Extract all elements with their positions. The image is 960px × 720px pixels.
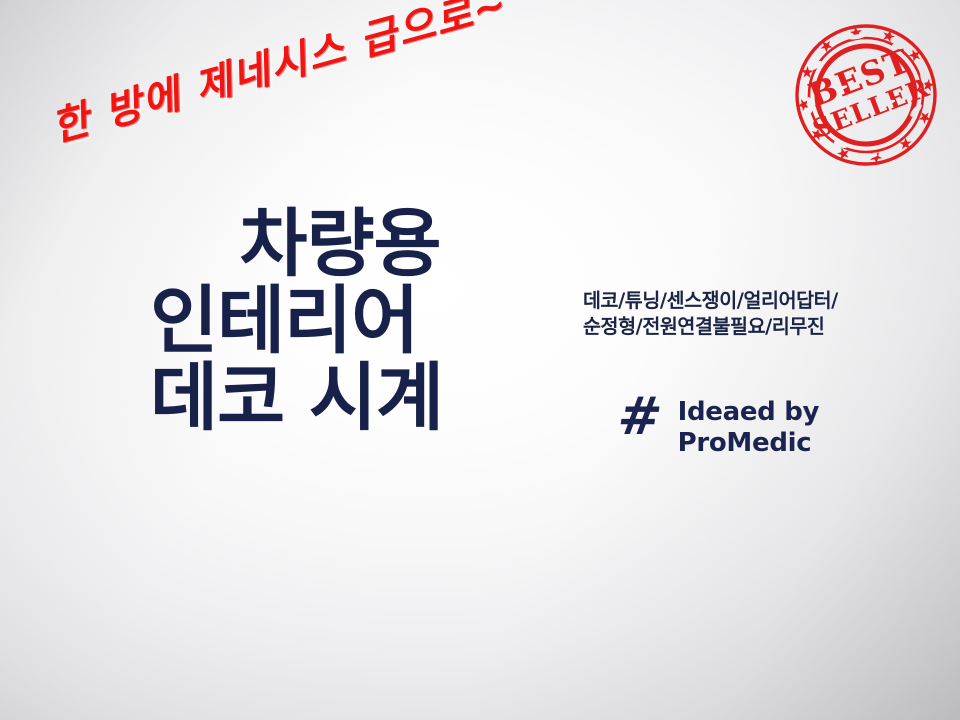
feature-tagline: 데코/튜닝/센스쟁이/얼리어답터/ 순정형/전원연결불필요/리무진 (583, 288, 838, 340)
title-line-1: 차량용 (150, 206, 530, 283)
hashtag-icon: # (615, 394, 664, 442)
tagline-line-1: 데코/튜닝/센스쟁이/얼리어답터/ (583, 288, 838, 314)
best-seller-stamp: BEST SELLER (782, 11, 949, 178)
brand-line-2: ProMedic (678, 428, 820, 459)
brand-credit: # Ideaed by ProMedic (618, 394, 819, 459)
tagline-line-2: 순정형/전원연결불필요/리무진 (583, 314, 838, 340)
promo-slide: 한 방에 제네시스 급으로~ (0, 0, 960, 720)
brand-line-1: Ideaed by (678, 397, 820, 428)
title-line-2: 인테리어 (150, 283, 530, 360)
brand-name: Ideaed by ProMedic (678, 394, 820, 459)
page-title: 차량용 인테리어 데코 시계 (150, 206, 530, 437)
title-line-3: 데코 시계 (150, 360, 530, 437)
